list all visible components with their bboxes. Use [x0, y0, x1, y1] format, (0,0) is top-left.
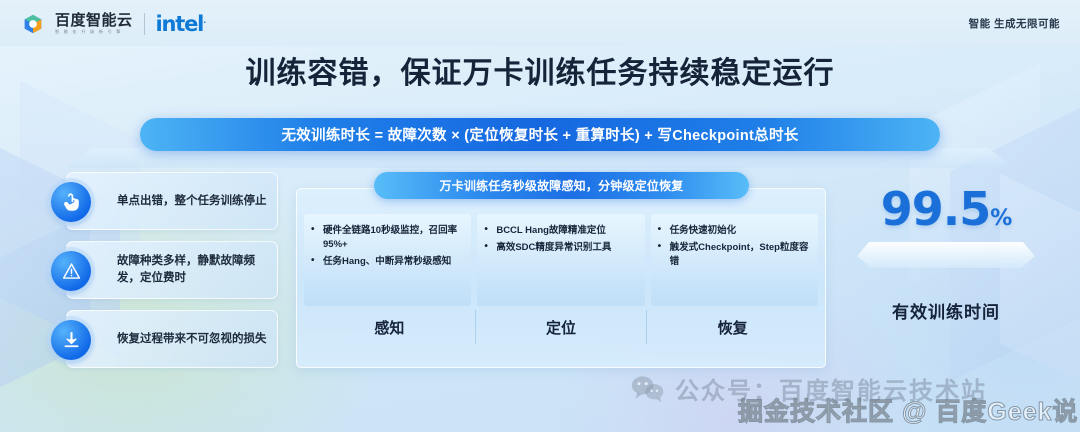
formula-text: 无效训练时长 = 故障次数 × (定位恢复时长 + 重算时长) + 写Check… — [281, 124, 798, 145]
list-item: 触发式Checkpoint，Step粒度容错 — [655, 241, 812, 269]
baidu-logo-sub: 智 能 化 升 级 新 引 擎 — [55, 30, 133, 34]
page-title: 训练容错，保证万卡训练任务持续稳定运行 — [0, 48, 1080, 92]
download-arrow-icon — [51, 320, 91, 360]
capability-column-locate[interactable]: BCCL Hang故障精准定位 高效SDC精度异常识别工具 — [477, 214, 644, 306]
pain-point-text-2: 故障种类多样，静默故障频发，定位费时 — [117, 253, 269, 286]
header-tagline: 智能 生成无限可能 — [969, 16, 1060, 31]
stat-value: 99.5% — [846, 186, 1046, 232]
capability-bullets-locate: BCCL Hang故障精准定位 高效SDC精度异常识别工具 — [481, 224, 638, 255]
capability-stage-labels: 感知 定位 恢复 — [304, 310, 818, 344]
stage-label-locate: 定位 — [475, 310, 647, 344]
capability-columns: 硬件全链路10秒级监控，召回率95%+ 任务Hang、中断异常秒级感知 BCCL… — [304, 214, 818, 306]
list-item: 任务Hang、中断异常秒级感知 — [308, 255, 465, 269]
pain-point-list: 单点出错，整个任务训练停止 故障种类多样，静默故障频发，定位费时 恢复过程带来不… — [66, 172, 278, 379]
logo-divider — [144, 13, 145, 35]
pain-point-card-1[interactable]: 单点出错，整个任务训练停止 — [66, 172, 278, 230]
geek-watermark: 掘金技术社区 @ 百度Geek说 — [738, 392, 1078, 428]
list-item: 任务快速初始化 — [655, 224, 812, 238]
pain-point-card-3[interactable]: 恢复过程带来不可忽视的损失 — [66, 310, 278, 368]
pain-point-text-1: 单点出错，整个任务训练停止 — [117, 193, 267, 210]
formula-plate — [66, 148, 1014, 168]
formula-banner: 无效训练时长 = 故障次数 × (定位恢复时长 + 重算时长) + 写Check… — [140, 118, 940, 151]
stage-label-recover: 恢复 — [646, 310, 818, 344]
stat-unit: % — [990, 206, 1011, 231]
stat-label: 有效训练时间 — [846, 298, 1046, 323]
intel-logo: intel. — [156, 12, 205, 36]
capability-headline-pill: 万卡训练任务秒级故障感知，分钟级定位恢复 — [374, 172, 749, 199]
capability-column-recover[interactable]: 任务快速初始化 触发式Checkpoint，Step粒度容错 — [651, 214, 818, 306]
stat-pedestal — [857, 242, 1035, 268]
slide-header: 百度智能云 智 能 化 升 级 新 引 擎 intel. 智能 生成无限可能 — [0, 0, 1080, 46]
pain-point-text-3: 恢复过程带来不可忽视的损失 — [117, 331, 267, 348]
stage-label-perceive: 感知 — [304, 310, 475, 344]
wechat-icon — [630, 374, 666, 404]
baidu-cloud-logo-icon — [22, 13, 44, 35]
list-item: BCCL Hang故障精准定位 — [481, 224, 638, 238]
warning-triangle-icon — [51, 251, 91, 291]
capability-bullets-perceive: 硬件全链路10秒级监控，召回率95%+ 任务Hang、中断异常秒级感知 — [308, 224, 465, 268]
list-item: 硬件全链路10秒级监控，召回率95%+ — [308, 224, 465, 252]
list-item: 高效SDC精度异常识别工具 — [481, 241, 638, 255]
tap-hand-icon — [51, 182, 91, 222]
effective-training-stat: 99.5% 有效训练时间 — [846, 186, 1046, 323]
capability-headline-text: 万卡训练任务秒级故障感知，分钟级定位恢复 — [439, 177, 683, 194]
baidu-logo-cn: 百度智能云 — [55, 13, 133, 28]
pain-point-card-2[interactable]: 故障种类多样，静默故障频发，定位费时 — [66, 241, 278, 299]
stat-number: 99.5 — [881, 182, 991, 236]
intel-logo-text: intel — [156, 12, 204, 36]
capability-column-perceive[interactable]: 硬件全链路10秒级监控，召回率95%+ 任务Hang、中断异常秒级感知 — [304, 214, 471, 306]
capability-bullets-recover: 任务快速初始化 触发式Checkpoint，Step粒度容错 — [655, 224, 812, 268]
logo-group: 百度智能云 智 能 化 升 级 新 引 擎 intel. — [22, 12, 205, 36]
baidu-wordmark: 百度智能云 智 能 化 升 级 新 引 擎 — [55, 13, 133, 34]
